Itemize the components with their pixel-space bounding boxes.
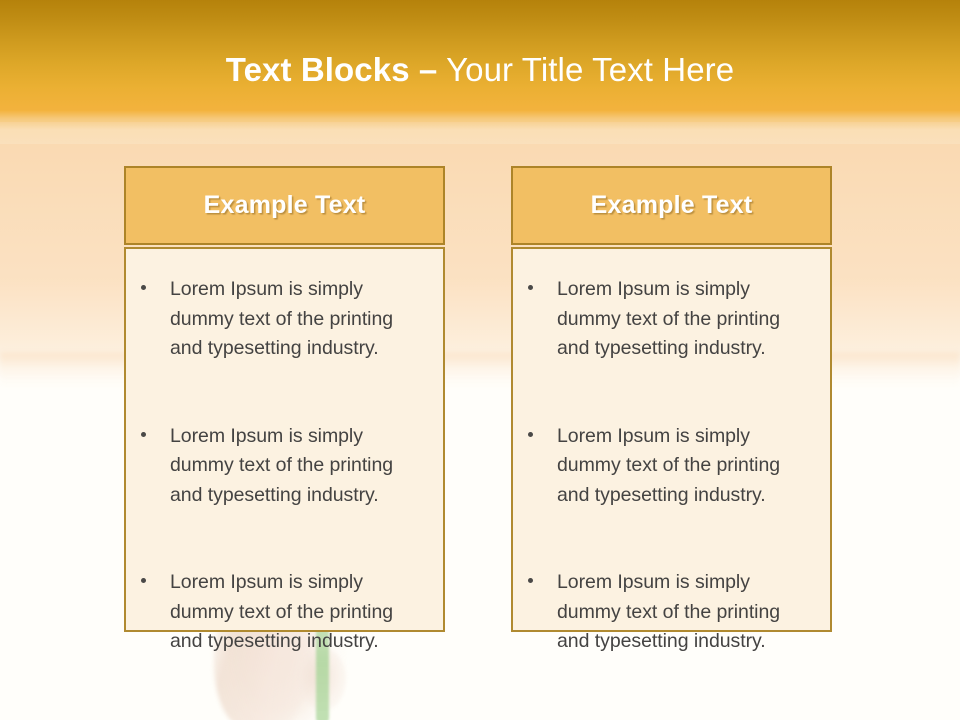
list-item: Lorem Ipsum is simply dummy text of the … (519, 422, 816, 511)
card-1-body: Lorem Ipsum is simply dummy text of the … (124, 247, 445, 632)
card-1-header[interactable]: Example Text (124, 166, 445, 245)
header-band-fade (0, 110, 960, 144)
card-2-bullet-list: Lorem Ipsum is simply dummy text of the … (519, 275, 816, 657)
card-2-body: Lorem Ipsum is simply dummy text of the … (511, 247, 832, 632)
list-item: Lorem Ipsum is simply dummy text of the … (519, 275, 816, 364)
list-item: Lorem Ipsum is simply dummy text of the … (132, 422, 429, 511)
page-title: Text Blocks – Your Title Text Here (0, 50, 960, 90)
list-item: Lorem Ipsum is simply dummy text of the … (519, 568, 816, 657)
card-1-bullet-list: Lorem Ipsum is simply dummy text of the … (132, 275, 429, 657)
list-item-text: Lorem Ipsum is simply dummy text of the … (557, 425, 780, 506)
page-title-regular: Your Title Text Here (437, 51, 734, 88)
bullet-dot-icon (528, 432, 533, 437)
card-2-header-label: Example Text (591, 191, 753, 220)
list-item-text: Lorem Ipsum is simply dummy text of the … (170, 278, 393, 359)
list-item-text: Lorem Ipsum is simply dummy text of the … (557, 571, 780, 652)
list-item: Lorem Ipsum is simply dummy text of the … (132, 275, 429, 364)
text-block-card-2[interactable]: Example Text Lorem Ipsum is simply dummy… (511, 166, 832, 632)
card-1-header-label: Example Text (204, 191, 366, 220)
page-title-bold: Text Blocks – (226, 51, 438, 88)
list-item: Lorem Ipsum is simply dummy text of the … (132, 568, 429, 657)
card-2-header[interactable]: Example Text (511, 166, 832, 245)
bullet-dot-icon (141, 285, 146, 290)
slide-canvas: Text Blocks – Your Title Text Here Examp… (0, 0, 960, 720)
text-block-card-1[interactable]: Example Text Lorem Ipsum is simply dummy… (124, 166, 445, 632)
bullet-dot-icon (528, 285, 533, 290)
bullet-dot-icon (141, 578, 146, 583)
bullet-dot-icon (141, 432, 146, 437)
list-item-text: Lorem Ipsum is simply dummy text of the … (170, 571, 393, 652)
list-item-text: Lorem Ipsum is simply dummy text of the … (170, 425, 393, 506)
list-item-text: Lorem Ipsum is simply dummy text of the … (557, 278, 780, 359)
bullet-dot-icon (528, 578, 533, 583)
